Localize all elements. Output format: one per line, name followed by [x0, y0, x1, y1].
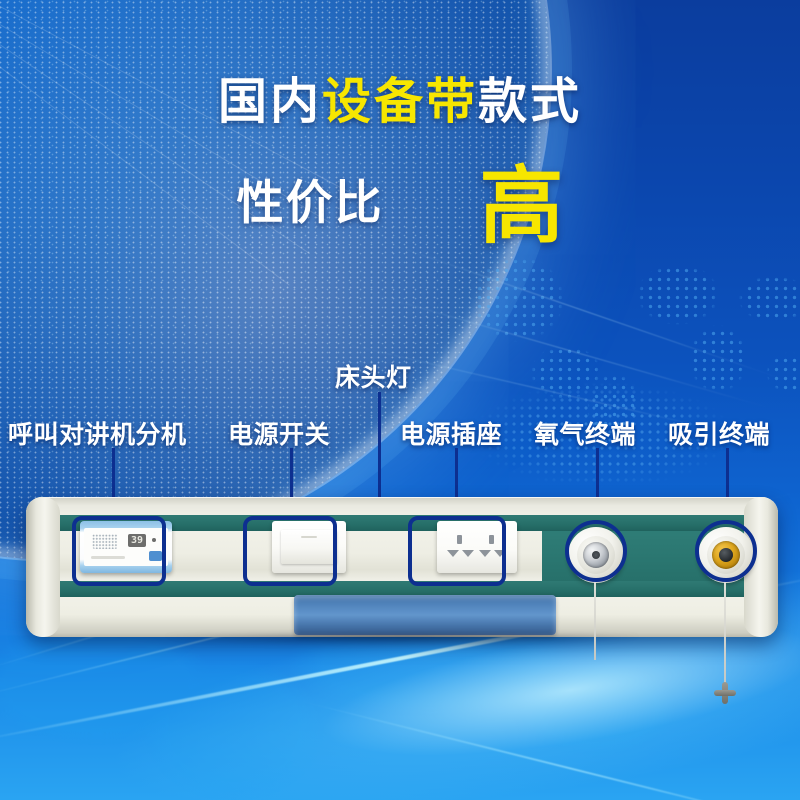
highlight-circle-suction: [695, 520, 757, 582]
highlight-box-intercom: [72, 516, 166, 586]
callout-label-power-switch: 电源开关: [228, 415, 330, 451]
callout-label-intercom: 呼叫对讲机分机: [8, 415, 187, 451]
unit-end-cap-left: [26, 497, 60, 637]
pull-cord-suction[interactable]: [724, 580, 726, 686]
callout-label-oxygen-outlet: 氧气终端: [534, 415, 636, 451]
headline-segment-3: 款式: [478, 75, 582, 129]
pull-cord-oxygen[interactable]: [594, 580, 596, 660]
poster-canvas: 国内设备带款式 性价比高 呼叫对讲机分机 电源开关 床头灯 电源插座 氧气终端 …: [0, 0, 800, 800]
pull-cord-handle[interactable]: [714, 682, 736, 704]
subheadline-text: 性价比: [236, 179, 383, 226]
unit-drop-shadow: [66, 635, 738, 651]
headline-segment-1: 国内: [218, 75, 322, 129]
highlight-circle-oxygen: [565, 520, 627, 582]
bed-lamp[interactable]: [294, 595, 556, 635]
highlight-box-power-socket: [408, 516, 506, 586]
highlight-box-power-switch: [243, 516, 337, 586]
subheadline: 性价比高: [0, 160, 800, 244]
headline: 国内设备带款式: [0, 78, 800, 127]
headline-segment-2: 设备带: [322, 75, 478, 129]
subheadline-emphasis: 高: [479, 164, 563, 248]
callout-label-bed-lamp: 床头灯: [335, 358, 412, 394]
callout-label-suction-outlet: 吸引终端: [668, 415, 770, 451]
callout-label-power-socket: 电源插座: [400, 415, 502, 451]
